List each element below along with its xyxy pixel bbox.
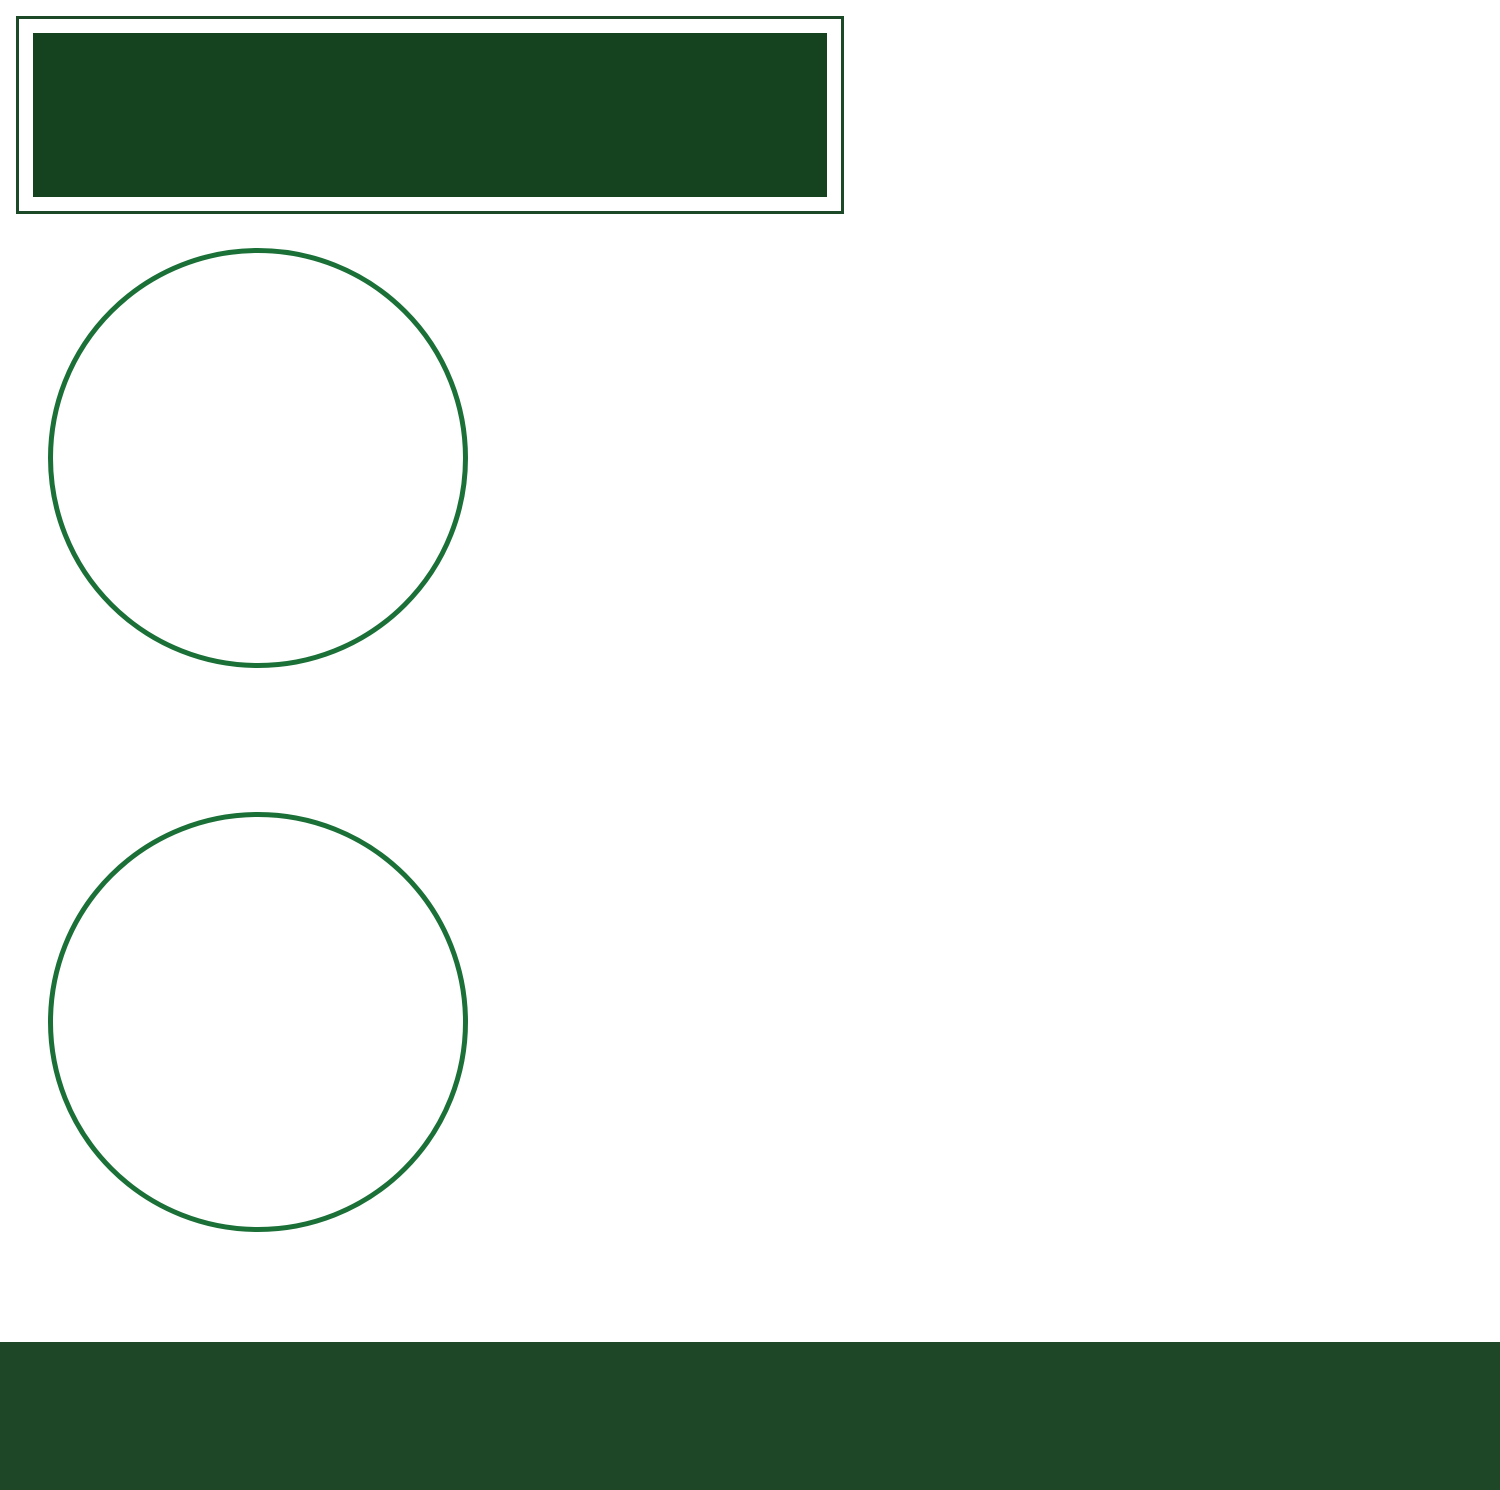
pole-light-connector-photo [48,812,468,1232]
header-banner-inner [33,33,827,197]
gloved-hands-fluffing-branches-photo [48,248,468,668]
multicolor-prelit-flocked-christmas-tree [960,20,1480,1080]
header-banner [16,16,844,214]
infographic-canvas [0,0,1500,1490]
footer-banner [0,1342,1500,1490]
unlit-flocked-christmas-tree [420,300,980,1340]
